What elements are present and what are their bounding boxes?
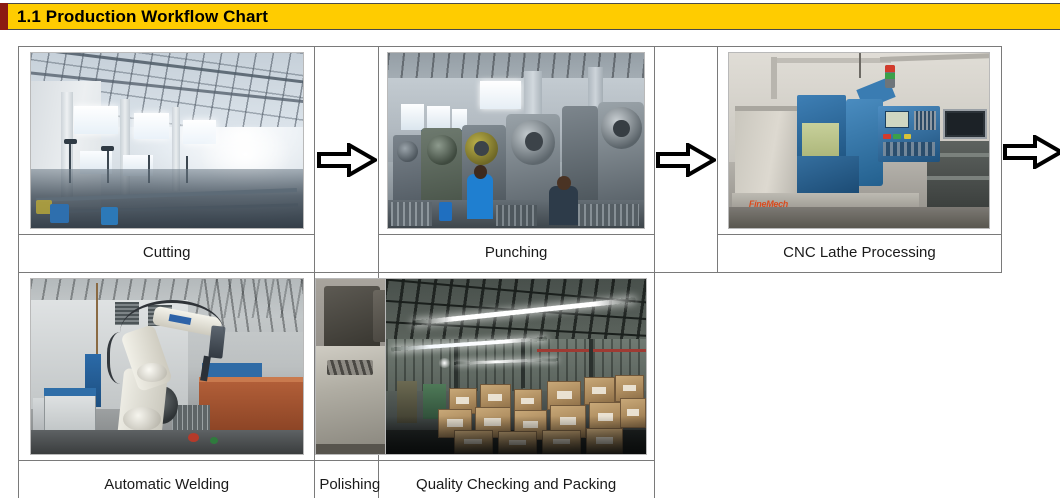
workflow-row-1-labels: Cutting Punching CNC Lathe Processing <box>19 235 1002 273</box>
step-label-cutting: Cutting <box>19 242 314 265</box>
step-label-cell-welding: Automatic Welding <box>19 461 315 498</box>
step-cell-welding-image <box>19 273 315 461</box>
step-cell-punching-image <box>378 47 654 235</box>
photo-punching <box>387 52 645 229</box>
step-label-cell-polishing: Polishing <box>315 461 378 498</box>
step-label-cell-packing: Quality Checking and Packing <box>378 461 654 498</box>
page-title: 1.1 Production Workflow Chart <box>8 8 268 25</box>
step-label-quality-checking-and-packing: Quality Checking and Packing <box>379 474 654 497</box>
production-workflow-page: 1.1 Production Workflow Chart <box>0 0 1060 498</box>
photo-automatic-welding <box>30 278 304 455</box>
workflow-row-2-labels: Automatic Welding Polishing Quality Chec… <box>19 461 1002 498</box>
workflow-row-1-images: FineMech <box>19 47 1002 235</box>
step-cell-polishing-image <box>315 273 378 461</box>
photo-cnc-lathe: FineMech <box>728 52 990 229</box>
photo-quality-checking-packing <box>385 278 647 455</box>
step-label-punching: Punching <box>379 242 654 265</box>
right-arrow-icon <box>1002 135 1060 169</box>
header-accent-stripe <box>0 3 8 30</box>
step-label-cnc-lathe-processing: CNC Lathe Processing <box>718 242 1001 265</box>
production-workflow-table: FineMech Cutting Punching CNC Lathe Proc… <box>18 46 1002 498</box>
step-label-automatic-welding: Automatic Welding <box>19 474 314 497</box>
step-cell-packing-image <box>378 273 654 461</box>
step-label-cell-punching: Punching <box>378 235 654 273</box>
arrow-cell-1 <box>315 47 378 273</box>
step-cell-cnc-image: FineMech <box>717 47 1001 235</box>
workflow-row-2-images <box>19 273 1002 461</box>
arrow-cell-3 <box>1002 135 1060 167</box>
step-label-cell-cutting: Cutting <box>19 235 315 273</box>
step-label-cell-cnc: CNC Lathe Processing <box>717 235 1001 273</box>
step-label-polishing: Polishing <box>315 474 377 497</box>
section-header-bar: 1.1 Production Workflow Chart <box>0 3 1060 30</box>
step-cell-cutting-image <box>19 47 315 235</box>
right-arrow-icon <box>317 143 377 177</box>
cnc-machine-logo: FineMech <box>737 200 799 214</box>
right-arrow-icon <box>656 143 716 177</box>
photo-cutting <box>30 52 304 229</box>
arrow-cell-2 <box>654 47 717 273</box>
